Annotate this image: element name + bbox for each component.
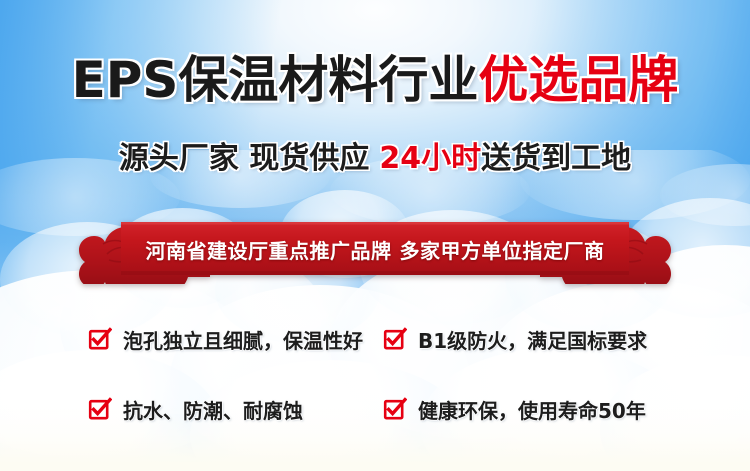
- checkbox-checked-icon: [88, 397, 112, 421]
- feature-label: B1级防火，满足国标要求: [418, 325, 647, 354]
- headline: EPS保温材料行业优选品牌: [0, 50, 750, 110]
- ribbon-text-part1: 河南省建设厅重点推广品牌: [146, 239, 392, 263]
- feature-row: 抗水、防潮、耐腐蚀 健康环保，使用寿命50年: [88, 388, 674, 430]
- checkbox-checked-icon: [88, 327, 112, 351]
- feature-item: 泡孔独立且细腻，保温性好: [88, 325, 383, 354]
- ribbon-text: 河南省建设厅重点推广品牌多家甲方单位指定厂商: [0, 235, 750, 267]
- feature-item: 抗水、防潮、耐腐蚀: [88, 395, 383, 424]
- feature-item: B1级防火，满足国标要求: [383, 325, 674, 354]
- feature-label: 健康环保，使用寿命50年: [418, 395, 646, 424]
- feature-label: 泡孔独立且细腻，保温性好: [123, 325, 363, 354]
- feature-item: 健康环保，使用寿命50年: [383, 395, 674, 424]
- subheadline-part2: 送货到工地: [481, 141, 631, 176]
- headline-accent: 优选品牌: [478, 51, 678, 109]
- checkbox-checked-icon: [383, 327, 407, 351]
- headline-main: EPS保温材料行业: [72, 51, 479, 109]
- subheadline-accent: 24小时: [379, 141, 481, 176]
- promo-banner: EPS保温材料行业优选品牌 源头厂家 现货供应24小时送货到工地: [0, 0, 750, 471]
- subheadline: 源头厂家 现货供应24小时送货到工地: [0, 139, 750, 179]
- ribbon-banner: 河南省建设厅重点推广品牌多家甲方单位指定厂商: [0, 214, 750, 284]
- feature-label: 抗水、防潮、耐腐蚀: [123, 395, 303, 424]
- feature-list: 泡孔独立且细腻，保温性好 B1级防火，满足国标要求: [88, 318, 674, 458]
- subheadline-part1: 源头厂家 现货供应: [119, 141, 369, 176]
- checkbox-checked-icon: [383, 397, 407, 421]
- ribbon-text-part2: 多家甲方单位指定厂商: [400, 239, 605, 263]
- feature-row: 泡孔独立且细腻，保温性好 B1级防火，满足国标要求: [88, 318, 674, 360]
